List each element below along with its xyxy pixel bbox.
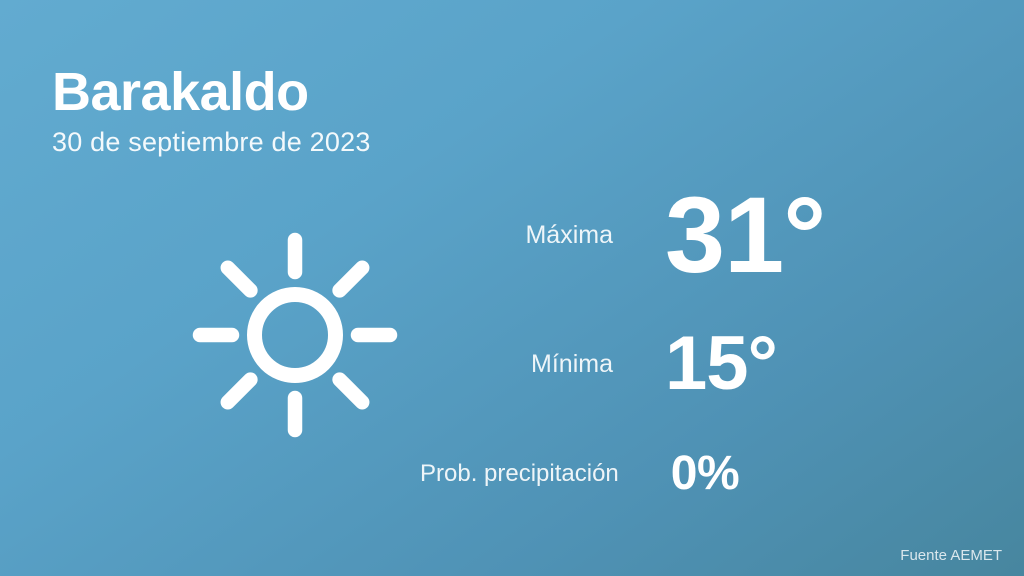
forecast-date: 30 de septiembre de 2023 [52, 127, 371, 158]
max-temp-value: 31° [665, 181, 825, 289]
precipitation-label: Prob. precipitación [420, 460, 671, 488]
max-temp-label: Máxima [420, 221, 665, 250]
reading-row-min: Mínima 15° [420, 302, 940, 426]
source-attribution: Fuente AEMET [900, 547, 1002, 564]
reading-row-max: Máxima 31° [420, 168, 940, 302]
page-title: Barakaldo [52, 64, 371, 121]
readings-list: Máxima 31° Mínima 15° Prob. precipitació… [420, 168, 940, 522]
min-temp-label: Mínima [420, 350, 665, 379]
sun-icon [175, 215, 415, 455]
header: Barakaldo 30 de septiembre de 2023 [52, 64, 371, 158]
reading-row-precipitation: Prob. precipitación 0% [420, 426, 940, 522]
min-temp-value: 15° [665, 326, 777, 402]
weather-card: Barakaldo 30 de septiembre de 2023 [0, 0, 1024, 576]
precipitation-value: 0% [671, 450, 739, 498]
